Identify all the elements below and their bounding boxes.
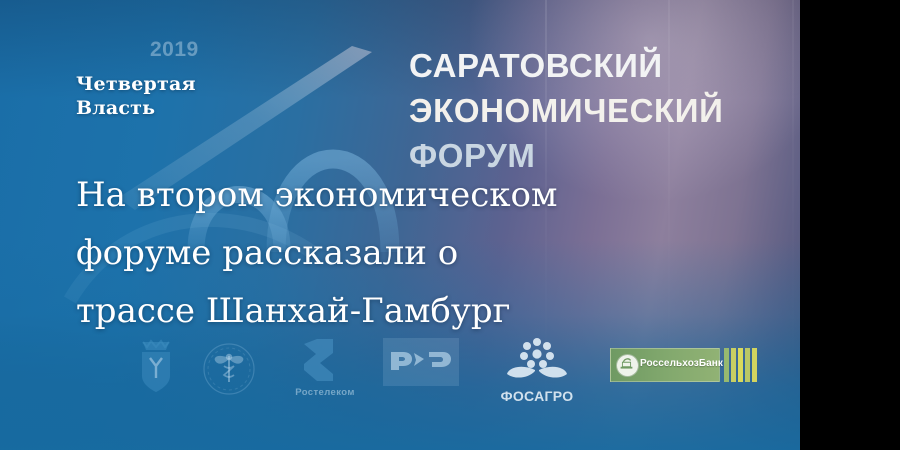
hero-image: Ростелеком (0, 0, 900, 450)
sponsor-logo-rosselkhozbank: РоссельхозБанк (610, 348, 758, 382)
phosagro-flower-icon (495, 334, 579, 386)
sponsor-logo-strip: Ростелеком (0, 330, 800, 440)
rshb-stripe (738, 348, 743, 382)
sponsor-label-rosselkhozbank: РоссельхозБанк (640, 358, 723, 369)
forum-title-line-1: САРАТОВСКИЙ (409, 43, 723, 88)
rshb-stripe (724, 348, 729, 382)
forum-backdrop-photo: Ростелеком (0, 0, 800, 450)
brand-year: 2019 (150, 38, 199, 62)
right-letterbox-bar (800, 0, 900, 450)
forum-title-line-2: ЭКОНОМИЧЕСКИЙ (409, 88, 723, 133)
rshb-stripe (745, 348, 750, 382)
sponsor-logo-rostelecom: Ростелеком (286, 336, 364, 400)
sponsor-label-rostelecom: Ростелеком (286, 387, 364, 398)
caduceus-circle-emblem-icon (200, 340, 258, 398)
rzd-glyph-icon (389, 348, 453, 372)
rshb-seal-glyph-icon (617, 355, 636, 374)
shield-crown-emblem-icon (135, 338, 177, 396)
headline-line-2: форуме рассказали о (76, 224, 776, 282)
rshb-stripe (731, 348, 736, 382)
brand-name-line-1: Четвертая (76, 72, 196, 96)
article-headline: На втором экономическом форуме рассказал… (76, 166, 776, 340)
sponsor-logo-coat-of-arms (135, 338, 177, 396)
brand-name-line-2: Власть (76, 96, 196, 120)
sponsor-logo-chamber-of-commerce (200, 340, 258, 398)
sponsor-logo-phosagro: ФОСАГРО (495, 334, 579, 404)
rshb-stripe (752, 348, 757, 382)
forum-banner-title: САРАТОВСКИЙ ЭКОНОМИЧЕСКИЙ ФОРУМ (409, 43, 723, 178)
rostelecom-ear-icon (286, 336, 364, 388)
headline-line-1: На втором экономическом (76, 166, 776, 224)
brand-logo-text: Четвертая Власть (76, 72, 196, 120)
sponsor-logo-rzd (383, 338, 459, 386)
rzd-wordmark-icon (383, 348, 459, 378)
rosselkhozbank-seal-icon (616, 354, 639, 377)
headline-line-3: трассе Шанхай-Гамбург (76, 282, 776, 340)
sponsor-label-phosagro: ФОСАГРО (495, 388, 579, 404)
